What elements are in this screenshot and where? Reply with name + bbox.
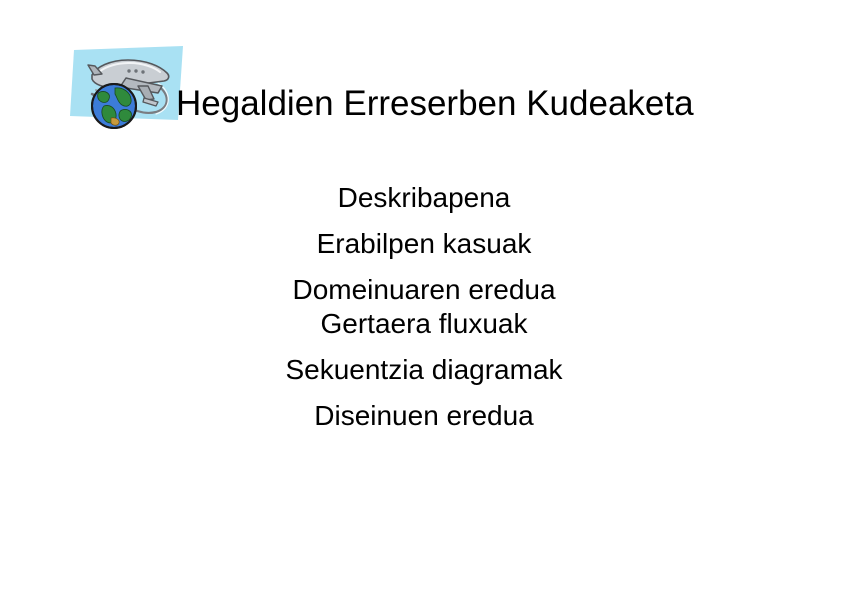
slide-canvas: Hegaldien Erreserben Kudeaketa Deskribap…	[0, 0, 848, 599]
outline-item-diseinuen-eredua: Diseinuen eredua	[0, 400, 848, 432]
title-row: Hegaldien Erreserben Kudeaketa	[0, 40, 848, 130]
outline-list: Deskribapena Erabilpen kasuak Domeinuare…	[0, 182, 848, 432]
outline-item-sekuentzia-diagramak: Sekuentzia diagramak	[0, 354, 848, 386]
airplane-globe-logo	[66, 42, 190, 130]
page-title: Hegaldien Erreserben Kudeaketa	[176, 84, 694, 124]
outline-item-domeinuaren-eredua: Domeinuaren eredua	[0, 274, 848, 306]
globe-icon	[92, 84, 136, 128]
outline-item-deskribapena: Deskribapena	[0, 182, 848, 214]
outline-item-gertaera-fluxuak: Gertaera fluxuak	[0, 308, 848, 340]
outline-item-erabilpen-kasuak: Erabilpen kasuak	[0, 228, 848, 260]
